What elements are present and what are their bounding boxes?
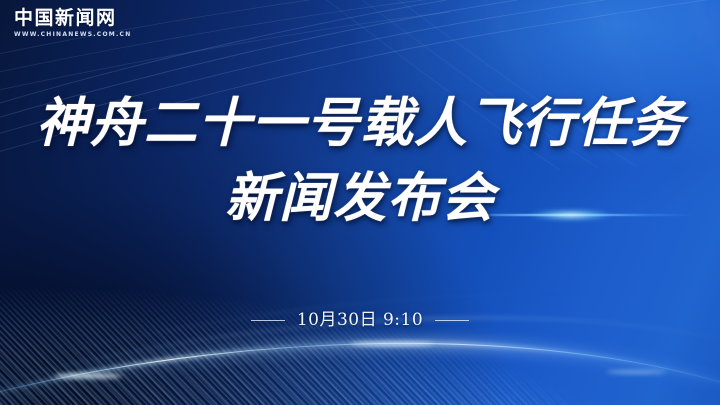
logo-wordmark: 中国新闻网 — [14, 9, 214, 28]
page-title: 神舟二十一号载人飞行任务 新闻发布会 — [0, 92, 720, 231]
logo-url: WWW.CHINANEWS.COM.CN — [14, 32, 214, 38]
title-line-2: 新闻发布会 — [0, 167, 720, 232]
date-row: 10月30日 9:10 — [0, 312, 720, 329]
date-text: 10月30日 9:10 — [297, 312, 423, 329]
date-rule-right — [435, 320, 469, 321]
date-rule-left — [251, 320, 285, 321]
title-line-1: 神舟二十一号载人飞行任务 — [0, 92, 720, 157]
news-poster: 中国新闻网 WWW.CHINANEWS.COM.CN 神舟二十一号载人飞行任务 … — [0, 0, 720, 405]
chinanews-logo[interactable]: 中国新闻网 WWW.CHINANEWS.COM.CN — [14, 9, 214, 38]
